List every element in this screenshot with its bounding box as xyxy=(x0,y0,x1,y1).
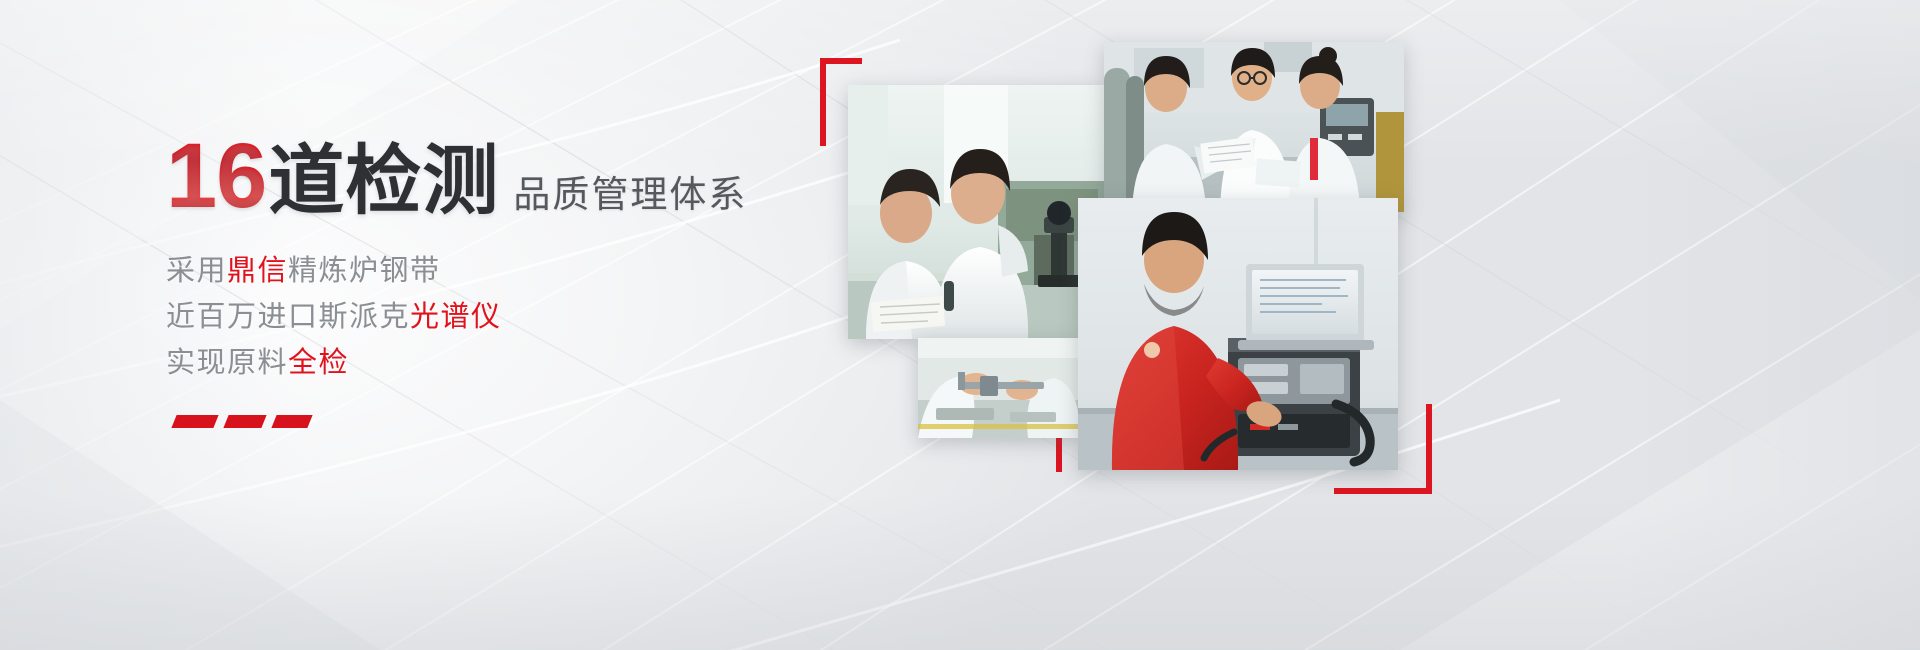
body-copy-line-2: 近百万进口斯派克光谱仪 xyxy=(166,294,886,340)
line-1-after: 精炼炉钢带 xyxy=(288,253,441,287)
photo-spectrometer-operator xyxy=(1078,198,1398,470)
dash-mark-1 xyxy=(171,415,218,428)
photo-calipers-measurement xyxy=(918,338,1080,438)
line-3-before: 实现原料 xyxy=(166,345,288,379)
banner-copy: 16 道检测 品质管理体系 采用鼎信精炼炉钢带 近百万进口斯派克光谱仪 实现原料… xyxy=(166,130,886,428)
line-3-highlight: 全检 xyxy=(288,345,349,379)
line-2-before: 近百万进口斯派克 xyxy=(166,299,410,333)
line-1-before: 采用 xyxy=(166,253,227,287)
headline-number: 16 xyxy=(166,130,266,222)
decorative-dashes xyxy=(174,415,886,428)
body-copy-line-3: 实现原料全检 xyxy=(166,340,886,386)
body-copy-line-1: 采用鼎信精炼炉钢带 xyxy=(166,248,886,294)
line-1-highlight: 鼎信 xyxy=(227,253,288,287)
headline-subtitle: 品质管理体系 xyxy=(513,176,747,213)
line-2-highlight: 光谱仪 xyxy=(410,299,502,333)
body-copy-list: 采用鼎信精炼炉钢带 近百万进口斯派克光谱仪 实现原料全检 xyxy=(166,248,886,385)
headline-main: 道检测 xyxy=(268,143,499,219)
dash-mark-2 xyxy=(223,415,266,428)
promo-banner: 16 道检测 品质管理体系 采用鼎信精炼炉钢带 近百万进口斯派克光谱仪 实现原料… xyxy=(0,0,1920,650)
dash-mark-3 xyxy=(271,415,312,428)
photo-microscope-lab xyxy=(848,85,1106,339)
headline: 16 道检测 品质管理体系 xyxy=(166,130,886,222)
photo-inspection-team xyxy=(1104,42,1404,212)
photo-collage xyxy=(820,0,1920,650)
